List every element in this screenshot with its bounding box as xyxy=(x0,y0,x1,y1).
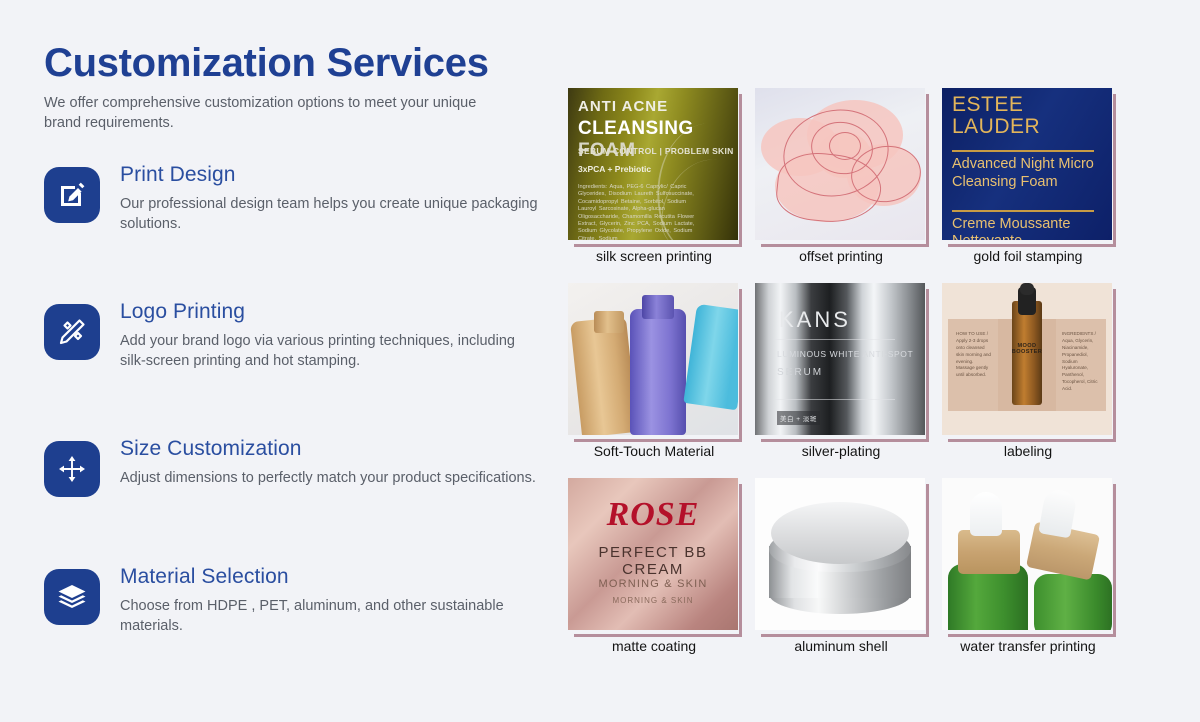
feature-title: Size Customization xyxy=(120,437,554,461)
gallery-item-soft-touch-material[interactable]: Soft-Touch Material xyxy=(568,283,740,463)
gallery-caption: silver-plating xyxy=(755,443,927,460)
kans-line-1: LUMINOUS WHITE ANTI-SPOT xyxy=(777,349,913,359)
gallery-caption: labeling xyxy=(942,443,1114,460)
thumbnail-frame xyxy=(755,88,925,243)
tube-line-1: ANTI ACNE xyxy=(578,98,668,115)
feature-item-material-selection[interactable]: Material Selection Choose from HDPE , PE… xyxy=(44,565,554,687)
soft-touch-material-image xyxy=(568,283,738,435)
thumbnail-frame xyxy=(755,478,925,633)
gallery-item-water-transfer-printing[interactable]: water transfer printing xyxy=(942,478,1114,658)
gallery-caption: offset printing xyxy=(755,248,927,265)
thumbnail-frame: ROSE PERFECT BB CREAM MORNING & SKIN MOR… xyxy=(568,478,738,633)
feature-item-print-design[interactable]: Print Design Our professional design tea… xyxy=(44,163,554,300)
aluminum-shell-image xyxy=(755,478,925,630)
silver-rule xyxy=(775,399,895,400)
matte-coating-image: ROSE PERFECT BB CREAM MORNING & SKIN MOR… xyxy=(568,478,738,630)
labeling-image: HOW TO USE / Apply 2-3 drops onto cleans… xyxy=(942,283,1112,435)
kans-badge: 美白 + 淡斑 xyxy=(777,411,820,425)
feature-title: Print Design xyxy=(120,163,554,187)
label-copy-left: HOW TO USE / Apply 2-3 drops onto cleans… xyxy=(956,331,992,379)
gallery-item-gold-foil-stamping[interactable]: ESTEE LAUDER Advanced Night Micro Cleans… xyxy=(942,88,1114,268)
feature-item-logo-printing[interactable]: Logo Printing Add your brand logo via va… xyxy=(44,300,554,437)
bottle-tan-neck xyxy=(594,311,624,333)
matte-line-2: MORNING & SKIN xyxy=(568,578,738,590)
gallery-item-silk-screen-printing[interactable]: ANTI ACNE CLEANSING FOAM SEBUM CONTROL |… xyxy=(568,88,740,268)
tube-line-2-bold: CLEANSING xyxy=(578,118,694,139)
feature-title: Material Selection xyxy=(120,565,554,589)
four-arrows-resize-icon xyxy=(44,441,100,497)
gallery-caption: gold foil stamping xyxy=(942,248,1114,265)
estee-lauder-product-fr: Creme Moussante Nettoyante xyxy=(952,216,1112,240)
gallery-item-aluminum-shell[interactable]: aluminum shell xyxy=(755,478,927,658)
gallery-caption: water transfer printing xyxy=(930,638,1126,655)
silver-plating-image: KANS LUMINOUS WHITE ANTI-SPOT SERUM 美白 +… xyxy=(755,283,925,435)
gold-rule xyxy=(952,150,1094,152)
gold-rule xyxy=(952,210,1094,212)
tube-line-4: 3xPCA + Prebiotic xyxy=(578,164,651,174)
kans-line-2: SERUM xyxy=(777,367,823,378)
water-transfer-printing-image xyxy=(942,478,1112,630)
silk-screen-printing-image: ANTI ACNE CLEANSING FOAM SEBUM CONTROL |… xyxy=(568,88,738,240)
customization-services-page: Customization Services We offer comprehe… xyxy=(0,0,1200,722)
feature-description: Add your brand logo via various printing… xyxy=(120,331,540,371)
feature-item-size-customization[interactable]: Size Customization Adjust dimensions to … xyxy=(44,437,554,565)
bottle-purple xyxy=(630,309,686,435)
gallery-item-silver-plating[interactable]: KANS LUMINOUS WHITE ANTI-SPOT SERUM 美白 +… xyxy=(755,283,927,463)
rose-brand: ROSE xyxy=(568,496,738,534)
gallery-item-offset-printing[interactable]: offset printing xyxy=(755,88,927,268)
estee-lauder-product: Advanced Night Micro Cleansing Foam xyxy=(952,156,1112,191)
gallery-caption: silk screen printing xyxy=(568,248,740,265)
silver-rule xyxy=(775,339,895,340)
kans-brand: KANS xyxy=(779,307,851,333)
bottle-cyan xyxy=(683,304,738,411)
matte-line-1: PERFECT BB CREAM xyxy=(568,544,738,578)
feature-text: Material Selection Choose from HDPE , PE… xyxy=(120,565,554,636)
gallery-caption: Soft-Touch Material xyxy=(556,443,752,460)
gallery-caption: matte coating xyxy=(568,638,740,655)
thumbnail-frame: ESTEE LAUDER Advanced Night Micro Cleans… xyxy=(942,88,1112,243)
feature-description: Choose from HDPE , PET, aluminum, and ot… xyxy=(120,596,540,636)
tin-lid xyxy=(771,502,909,564)
thumbnail-frame xyxy=(942,478,1112,633)
feature-description: Adjust dimensions to perfectly match you… xyxy=(120,468,540,488)
offset-printing-image xyxy=(755,88,925,240)
header-block: Customization Services We offer comprehe… xyxy=(44,42,544,133)
page-title: Customization Services xyxy=(44,42,544,85)
matte-line-3: MORNING & SKIN xyxy=(568,596,738,605)
thumbnail-frame: HOW TO USE / Apply 2-3 drops onto cleans… xyxy=(942,283,1112,438)
wooden-cap-left xyxy=(958,530,1020,574)
gold-foil-stamping-image: ESTEE LAUDER Advanced Night Micro Cleans… xyxy=(942,88,1112,240)
edit-pencil-square-icon xyxy=(44,167,100,223)
gallery-caption: aluminum shell xyxy=(755,638,927,655)
feature-text: Logo Printing Add your brand logo via va… xyxy=(120,300,554,371)
green-bottle-right xyxy=(1034,574,1112,630)
bottle-tan xyxy=(570,316,638,435)
thumbnail-frame: ANTI ACNE CLEANSING FOAM SEBUM CONTROL |… xyxy=(568,88,738,243)
dropper-bulb xyxy=(1020,283,1034,295)
thumbnail-frame: KANS LUMINOUS WHITE ANTI-SPOT SERUM 美白 +… xyxy=(755,283,925,438)
label-product-name: MOOD BOOSTER xyxy=(1004,343,1050,355)
estee-lauder-brand: ESTEE LAUDER xyxy=(952,94,1112,139)
bottle-purple-neck xyxy=(642,295,674,319)
thumbnail-frame xyxy=(568,283,738,438)
gallery-item-matte-coating[interactable]: ROSE PERFECT BB CREAM MORNING & SKIN MOR… xyxy=(568,478,740,658)
feature-description: Our professional design team helps you c… xyxy=(120,194,540,234)
stamp-brush-icon xyxy=(44,304,100,360)
gallery-item-labeling[interactable]: HOW TO USE / Apply 2-3 drops onto cleans… xyxy=(942,283,1114,463)
customization-gallery: ANTI ACNE CLEANSING FOAM SEBUM CONTROL |… xyxy=(568,88,1114,658)
white-bulb-left xyxy=(970,492,1002,536)
feature-list: Print Design Our professional design tea… xyxy=(44,163,554,687)
feature-title: Logo Printing xyxy=(120,300,554,324)
page-subtitle: We offer comprehensive customization opt… xyxy=(44,93,484,133)
feature-text: Print Design Our professional design tea… xyxy=(120,163,554,234)
feature-text: Size Customization Adjust dimensions to … xyxy=(120,437,554,488)
layers-stack-icon xyxy=(44,569,100,625)
label-copy-right: INGREDIENTS / Aqua, Glycerin, Niacinamid… xyxy=(1062,331,1102,393)
